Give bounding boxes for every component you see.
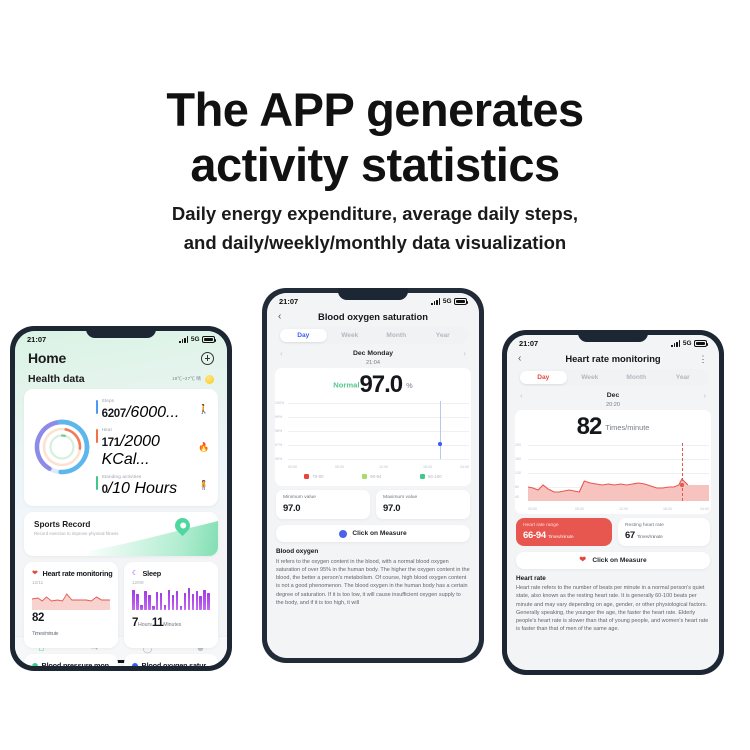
status-indicators: 5G — [671, 340, 707, 347]
bp-icon — [32, 663, 38, 667]
tab-year[interactable]: Year — [660, 371, 707, 384]
y-tick: 96% — [275, 457, 282, 461]
card-value: 82 — [32, 613, 110, 625]
metric-sub: /6000... — [126, 404, 179, 421]
phone-left-screen: 21:07 5G Home Health data 18℃~27℃ 晴 — [15, 331, 227, 666]
signal-icon — [431, 298, 440, 305]
spo2-chart: 100% 99% 98% 97% 96% 00:00 06:00 12:00 1… — [275, 401, 471, 469]
maximum-value-card: Maximum value 97.0 — [376, 490, 470, 519]
signal-icon — [671, 340, 680, 347]
article-title: Blood oxygen — [276, 548, 470, 555]
page-headline: The APP generates activity statistics — [0, 82, 750, 193]
nav-bar: ‹ Heart rate monitoring ⋮ — [507, 350, 719, 369]
x-tick: 24:00 — [460, 465, 469, 469]
spo2-icon — [132, 663, 138, 667]
phone-mid-screen: 21:07 5G ‹ Blood oxygen saturation Day W… — [267, 293, 479, 658]
phone-right-heart-rate: 21:07 5G ‹ Heart rate monitoring ⋮ Day W… — [502, 330, 724, 675]
metric-value: 171 — [102, 437, 120, 449]
card-title: Heart rate monitoring — [43, 569, 113, 578]
headline-line-1: The APP generates — [0, 82, 750, 137]
phone-mid-blood-oxygen: 21:07 5G ‹ Blood oxygen saturation Day W… — [262, 288, 484, 663]
legend-item: 70-90 — [304, 474, 323, 479]
next-date-icon[interactable]: › — [463, 349, 466, 358]
heart-icon: ❤ — [579, 556, 587, 564]
x-tick: 18:00 — [663, 507, 672, 511]
battery-icon — [202, 336, 215, 343]
activity-rings-card[interactable]: Steps 6207/6000... 🚶 Heat 171/2000 KCal.… — [24, 389, 218, 506]
prev-date-icon[interactable]: ‹ — [280, 349, 283, 358]
phone-left-home: 21:07 5G Home Health data 18℃~27℃ 晴 — [10, 326, 232, 671]
battery-icon — [694, 340, 707, 347]
phone-notch — [86, 326, 156, 338]
heart-rate-marker-line — [682, 443, 683, 501]
maximum-value: 97.0 — [383, 503, 463, 514]
weather-widget: 18℃~27℃ 晴 — [172, 375, 214, 384]
x-tick: 24:00 — [700, 507, 709, 511]
tab-day[interactable]: Day — [280, 329, 327, 342]
heart-rate-stats-row: Heart rate range 66-94Times/minute Resti… — [516, 518, 710, 546]
status-time: 21:07 — [519, 339, 538, 348]
subheadline-line-2: and daily/weekly/monthly data visualizat… — [0, 229, 750, 258]
status-indicators: 5G — [431, 298, 467, 305]
y-tick: 98% — [275, 429, 282, 433]
minimum-value-card: Minimum value 97.0 — [276, 490, 370, 519]
heart-rate-plot-area — [528, 443, 709, 501]
tab-month[interactable]: Month — [613, 371, 660, 384]
spo2-chart-card: Normal97.0% 100% 99% 98% 97% 96% 00:00 0… — [275, 368, 471, 486]
x-tick: 18:00 — [423, 465, 432, 469]
y-tick: 80 — [515, 485, 519, 489]
health-cards-row-1: ❤ Heart rate monitoring 12/11 82 Times/m… — [24, 562, 218, 649]
period-segmented-control: Day Week Month Year — [278, 327, 468, 344]
resting-heart-rate-card: Resting heart rate 67Times/minute — [618, 518, 710, 546]
article-body: Heart rate refers to the number of beats… — [516, 584, 710, 634]
heart-rate-chart: 200 160 120 80 40 00:00 06:00 — [515, 443, 711, 511]
heart-icon: ❤ — [32, 570, 39, 577]
metric-steps: Steps 6207/6000... 🚶 — [96, 398, 209, 422]
x-tick: 06:00 — [335, 465, 344, 469]
legend-item: 90-94 — [362, 474, 381, 479]
card-date: 12/11 — [32, 580, 110, 585]
status-time: 21:07 — [279, 297, 298, 306]
heart-rate-article: Heart rate Heart rate refers to the numb… — [516, 575, 710, 634]
blood-oxygen-card[interactable]: Blood oxygen satur 12/11 Normal Lower Sl… — [124, 654, 218, 666]
card-unit-2: Minutes — [163, 622, 181, 628]
y-tick: 97% — [275, 443, 282, 447]
heart-rate-data-point — [680, 483, 684, 487]
tab-year[interactable]: Year — [420, 329, 467, 342]
metric-tick — [96, 400, 98, 414]
x-tick: 12:00 — [379, 465, 388, 469]
minmax-row: Minimum value 97.0 Maximum value 97.0 — [276, 490, 470, 519]
spo2-icon — [339, 530, 347, 538]
health-data-label: Health data — [28, 373, 85, 385]
period-segmented-control: Day Week Month Year — [518, 369, 708, 386]
health-data-header: Health data 18℃~27℃ 晴 — [15, 368, 227, 389]
resting-unit: Times/minute — [637, 535, 663, 540]
date-navigator: ‹ Dec › — [507, 386, 719, 400]
tab-day[interactable]: Day — [520, 371, 567, 384]
status-indicators: 5G — [179, 336, 215, 343]
kebab-menu-icon[interactable]: ⋮ — [698, 355, 708, 363]
metric-tick — [96, 476, 98, 490]
sleep-bar-chart — [132, 588, 210, 610]
prev-date-icon[interactable]: ‹ — [520, 391, 523, 400]
card-date: 12/09 — [132, 580, 210, 585]
card-value-2: 11 — [152, 617, 163, 629]
page-title: Home — [28, 350, 66, 366]
weather-text: 18℃~27℃ 晴 — [172, 376, 201, 382]
tab-week[interactable]: Week — [567, 371, 614, 384]
network-label: 5G — [443, 298, 452, 305]
tab-month[interactable]: Month — [373, 329, 420, 342]
metric-label: Steps — [102, 398, 194, 403]
heart-rate-sparkline — [32, 588, 110, 610]
activity-rings-chart — [33, 418, 91, 476]
spo2-plot-area — [288, 401, 469, 459]
y-tick: 99% — [275, 415, 282, 419]
heart-rate-card[interactable]: ❤ Heart rate monitoring 12/11 82 Times/m… — [24, 562, 118, 649]
maximum-label: Maximum value — [383, 495, 463, 502]
card-unit: Times/minute — [32, 631, 58, 637]
spo2-marker-line — [440, 401, 441, 459]
x-tick: 12:00 — [619, 507, 628, 511]
range-label: Heart rate range — [523, 523, 605, 528]
phone-notch — [578, 330, 648, 342]
status-time: 21:07 — [27, 335, 46, 344]
subheadline-line-1: Daily energy expenditure, average daily … — [0, 200, 750, 229]
range-value: 66-94 — [523, 530, 546, 541]
tab-week[interactable]: Week — [327, 329, 374, 342]
x-tick: 06:00 — [575, 507, 584, 511]
sun-icon — [205, 375, 214, 384]
measure-button[interactable]: Click on Measure — [276, 525, 470, 542]
nav-bar: ‹ Blood oxygen saturation — [267, 308, 479, 327]
article-body: It refers to the oxygen content in the b… — [276, 558, 470, 608]
range-unit: Times/minute — [548, 535, 574, 540]
heart-rate-value: 82 — [577, 413, 602, 440]
phone-right-screen: 21:07 5G ‹ Heart rate monitoring ⋮ Day W… — [507, 335, 719, 670]
home-header: Home — [15, 346, 227, 368]
measure-button[interactable]: ❤ Click on Measure — [516, 552, 710, 569]
heart-rate-chart-card: 82Times/minute 200 160 120 80 40 — [515, 410, 711, 514]
phone-notch — [338, 288, 408, 300]
y-tick: 120 — [515, 471, 521, 475]
card-title: Blood pressure mon — [42, 661, 109, 666]
signal-icon — [179, 336, 188, 343]
card-title: Blood oxygen satur — [142, 661, 207, 666]
metrics-list: Steps 6207/6000... 🚶 Heat 171/2000 KCal.… — [96, 397, 209, 498]
y-tick: 100% — [275, 401, 284, 405]
metric-value: 6207 — [102, 408, 126, 420]
standing-icon: 🧍 — [198, 480, 209, 491]
spo2-legend: 70-90 90-94 94-100 — [275, 469, 471, 483]
measure-button-label: Click on Measure — [352, 530, 406, 537]
health-cards-row-2: Blood pressure mon Blood pressure measur… — [24, 654, 218, 666]
blood-oxygen-article: Blood oxygen It refers to the oxygen con… — [276, 548, 470, 607]
flame-icon: 🔥 — [198, 442, 209, 453]
network-label: 5G — [683, 340, 692, 347]
next-date-icon[interactable]: › — [703, 391, 706, 400]
blood-pressure-card[interactable]: Blood pressure mon Blood pressure measur… — [24, 654, 118, 666]
metric-tick — [96, 429, 98, 443]
status-badge: Normal — [333, 381, 359, 390]
metric-sub: /10 Hours — [108, 480, 177, 497]
plus-circle-icon[interactable] — [201, 352, 214, 365]
y-tick: 40 — [515, 495, 519, 499]
metric-heat: Heat 171/2000 KCal... 🔥 — [96, 427, 209, 469]
x-tick: 00:00 — [288, 465, 297, 469]
x-tick: 00:00 — [528, 507, 537, 511]
spo2-data-point — [438, 442, 442, 446]
heart-rate-unit: Times/minute — [605, 423, 649, 432]
current-date: Dec Monday — [353, 350, 393, 357]
measure-time: 21:04 — [267, 360, 479, 366]
back-icon[interactable]: ‹ — [278, 311, 288, 322]
heart-rate-range-card: Heart rate range 66-94Times/minute — [516, 518, 612, 546]
spo2-unit: % — [406, 381, 413, 390]
back-icon[interactable]: ‹ — [518, 353, 528, 364]
page-title: Heart rate monitoring — [534, 353, 692, 364]
sleep-card[interactable]: ☾ Sleep 12/09 7Hours11Minutes — [124, 562, 218, 649]
card-unit: Hours — [138, 622, 152, 628]
legend-item: 94-100 — [420, 474, 442, 479]
measure-button-label: Click on Measure — [592, 557, 646, 564]
page-subheadline: Daily energy expenditure, average daily … — [0, 200, 750, 257]
battery-icon — [454, 298, 467, 305]
metric-label: Heat — [102, 427, 194, 432]
sports-record-card[interactable]: Sports Record Record exercise to improve… — [24, 512, 218, 556]
legend-label: 90-94 — [370, 474, 381, 479]
heart-rate-reading: 82Times/minute — [515, 413, 711, 441]
moon-icon: ☾ — [132, 570, 139, 577]
page-title: Blood oxygen saturation — [294, 311, 452, 322]
article-title: Heart rate — [516, 575, 710, 582]
measure-time: 20:20 — [507, 402, 719, 408]
date-navigator: ‹ Dec Monday › — [267, 344, 479, 358]
legend-label: 94-100 — [428, 474, 442, 479]
metric-label: Standing activities — [102, 474, 194, 479]
network-label: 5G — [191, 336, 200, 343]
y-tick: 200 — [515, 443, 521, 447]
legend-label: 70-90 — [312, 474, 323, 479]
headline-line-2: activity statistics — [0, 137, 750, 192]
spo2-reading: Normal97.0% — [275, 371, 471, 399]
resting-value: 67 — [625, 530, 635, 541]
steps-icon: 🚶 — [198, 404, 209, 415]
card-title: Sleep — [143, 569, 161, 578]
spo2-value: 97.0 — [359, 371, 402, 398]
y-tick: 160 — [515, 457, 521, 461]
current-date: Dec — [607, 392, 619, 399]
minimum-label: Minimum value — [283, 495, 363, 502]
metric-standing: Standing activities 0/10 Hours 🧍 — [96, 474, 209, 498]
minimum-value: 97.0 — [283, 503, 363, 514]
resting-label: Resting heart rate — [625, 523, 703, 528]
